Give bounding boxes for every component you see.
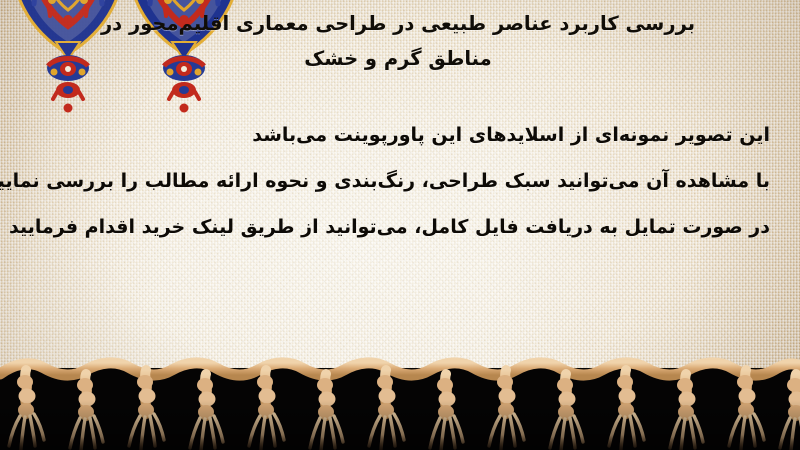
body-line-2: با مشاهده آن می‌توانید سبک طراحی، رنگ‌بن…: [30, 158, 770, 204]
page-title: بررسی کاربرد عناصر طبیعی در طراحی معماری…: [22, 6, 774, 76]
title-line-2: مناطق گرم و خشک: [22, 41, 774, 76]
body-line-1: این تصویر نمونه‌ای از اسلایدهای این پاور…: [30, 112, 770, 158]
carpet-tassel-fringe: [0, 340, 800, 450]
body-line-3: در صورت تمایل به دریافت فایل کامل، می‌تو…: [30, 204, 770, 250]
title-line-1: بررسی کاربرد عناصر طبیعی در طراحی معماری…: [22, 6, 774, 41]
slide-canvas: بررسی کاربرد عناصر طبیعی در طراحی معماری…: [0, 0, 800, 450]
body-text: این تصویر نمونه‌ای از اسلایدهای این پاور…: [30, 112, 770, 250]
